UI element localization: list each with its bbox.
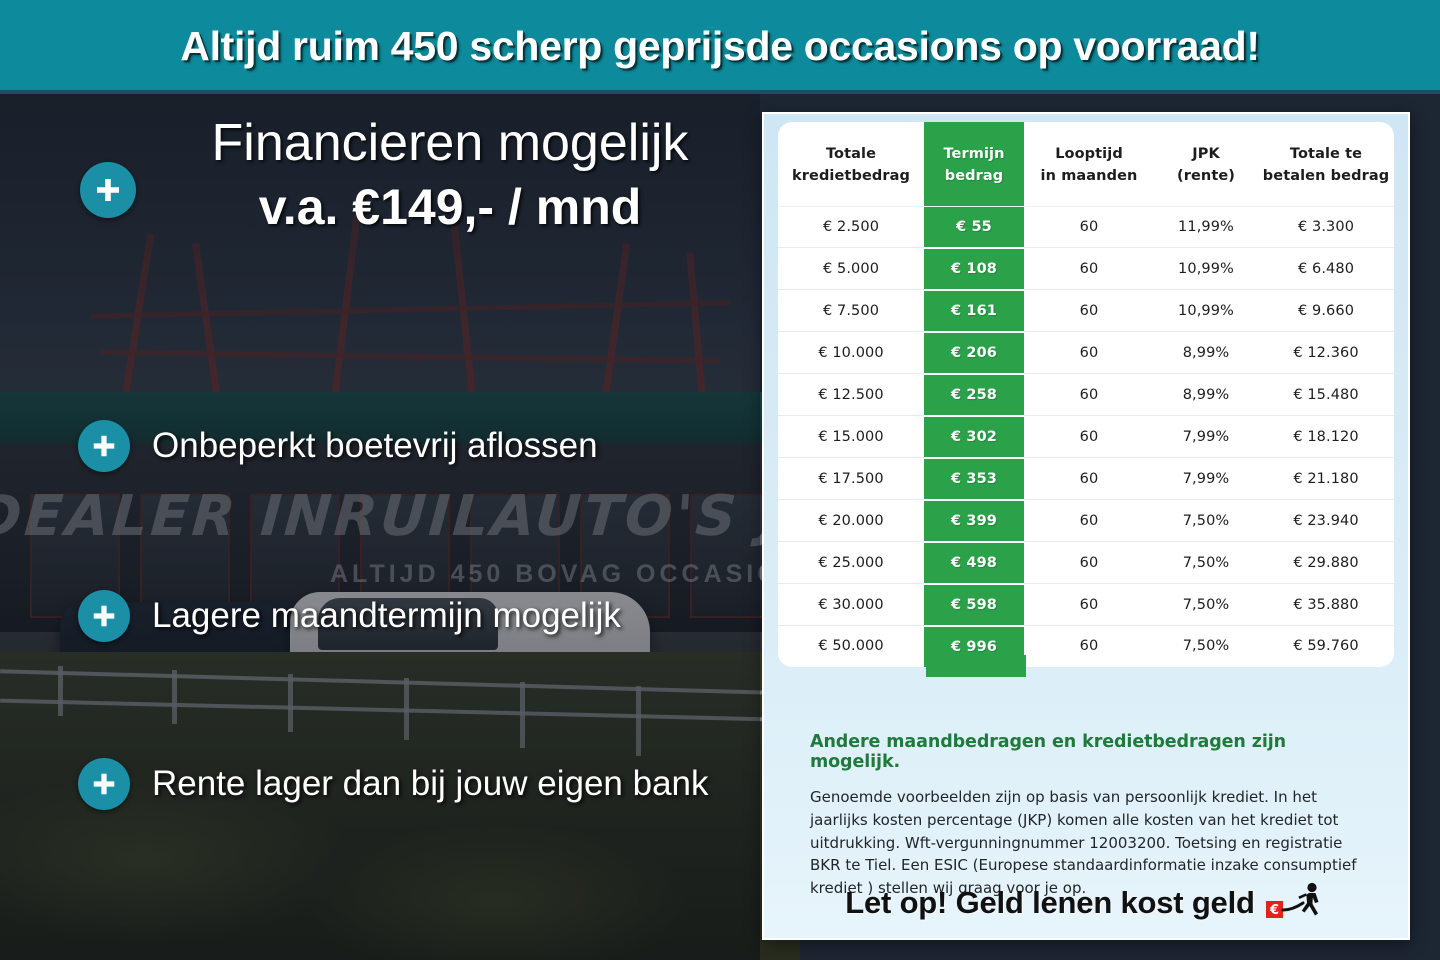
cell-apr: 7,50% (1154, 500, 1258, 542)
table-row: € 5.000€ 1086010,99%€ 6.480 (778, 248, 1394, 290)
header-line-2: bedrag (945, 168, 1004, 184)
cell-total-payable: € 3.300 (1258, 206, 1394, 248)
cell-monthly-amount: € 302 (924, 416, 1024, 458)
feature-bullet: Lagere maandtermijn mogelijk (78, 590, 621, 642)
column-header-total-payable: Totale te betalen bedrag (1258, 122, 1394, 206)
table-row: € 2.500€ 556011,99%€ 3.300 (778, 206, 1394, 248)
cell-apr: 10,99% (1154, 290, 1258, 332)
header-line-1: Termijn (943, 146, 1004, 162)
table-body: € 2.500€ 556011,99%€ 3.300€ 5.000€ 10860… (778, 206, 1394, 667)
table-row: € 50.000€ 996607,50%€ 59.760 (778, 626, 1394, 667)
cell-duration: 60 (1024, 626, 1154, 667)
cell-duration: 60 (1024, 542, 1154, 584)
cell-monthly-amount: € 108 (924, 248, 1024, 290)
cell-total-credit: € 17.500 (778, 458, 924, 500)
cell-total-payable: € 15.480 (1258, 374, 1394, 416)
cell-apr: 7,99% (1154, 416, 1258, 458)
cell-total-credit: € 15.000 (778, 416, 924, 458)
feature-bullet-label: Lagere maandtermijn mogelijk (152, 596, 621, 636)
cell-apr: 11,99% (1154, 206, 1258, 248)
cell-duration: 60 (1024, 374, 1154, 416)
cell-total-payable: € 6.480 (1258, 248, 1394, 290)
table-row: € 15.000€ 302607,99%€ 18.120 (778, 416, 1394, 458)
cell-total-credit: € 10.000 (778, 332, 924, 374)
cell-total-credit: € 12.500 (778, 374, 924, 416)
cell-apr: 10,99% (1154, 248, 1258, 290)
cell-total-credit: € 25.000 (778, 542, 924, 584)
cell-total-payable: € 21.180 (1258, 458, 1394, 500)
table-row: € 30.000€ 598607,50%€ 35.880 (778, 584, 1394, 626)
cell-total-credit: € 2.500 (778, 206, 924, 248)
headline-block: Financieren mogelijk v.a. €149,- / mnd (150, 116, 750, 234)
disclaimer-block: Andere maandbedragen en kredietbedragen … (810, 732, 1370, 900)
cell-total-payable: € 59.760 (1258, 626, 1394, 667)
cell-monthly-amount: € 161 (924, 290, 1024, 332)
cell-total-credit: € 7.500 (778, 290, 924, 332)
cell-monthly-amount: € 598 (924, 584, 1024, 626)
headline-line-2: v.a. €149,- / mnd (150, 181, 750, 234)
cell-total-payable: € 29.880 (1258, 542, 1394, 584)
header-line-1: Totale te (1290, 146, 1362, 162)
column-header-duration: Looptijd in maanden (1024, 122, 1154, 206)
feature-bullet: Onbeperkt boetevrij aflossen (78, 420, 598, 472)
header-line-1: Totale (826, 146, 876, 162)
table-row: € 12.500€ 258608,99%€ 15.480 (778, 374, 1394, 416)
table-header-row: Totale kredietbedrag Termijn bedrag Loop… (778, 122, 1394, 206)
table-row: € 7.500€ 1616010,99%€ 9.660 (778, 290, 1394, 332)
cell-total-payable: € 23.940 (1258, 500, 1394, 542)
disclaimer-heading: Andere maandbedragen en kredietbedragen … (810, 732, 1370, 772)
header-line-2: kredietbedrag (792, 168, 910, 184)
cell-total-credit: € 30.000 (778, 584, 924, 626)
cell-monthly-amount: € 258 (924, 374, 1024, 416)
feature-bullet-label: Onbeperkt boetevrij aflossen (152, 426, 598, 466)
header-line-2: betalen bedrag (1263, 168, 1389, 184)
plus-icon (78, 420, 130, 472)
ball-and-chain-walking-man-icon: € (1265, 882, 1327, 924)
cell-duration: 60 (1024, 290, 1154, 332)
cell-duration: 60 (1024, 206, 1154, 248)
cell-total-credit: € 50.000 (778, 626, 924, 667)
headline-line-1: Financieren mogelijk (150, 116, 750, 171)
financing-rates-table: Totale kredietbedrag Termijn bedrag Loop… (778, 122, 1394, 667)
cell-apr: 8,99% (1154, 332, 1258, 374)
cell-duration: 60 (1024, 416, 1154, 458)
cell-total-payable: € 12.360 (1258, 332, 1394, 374)
cell-total-credit: € 20.000 (778, 500, 924, 542)
table-row: € 20.000€ 399607,50%€ 23.940 (778, 500, 1394, 542)
column-header-monthly-amount: Termijn bedrag (924, 122, 1024, 206)
left-content-column: Financieren mogelijk v.a. €149,- / mnd O… (0, 92, 760, 960)
banner-underline (0, 90, 1440, 94)
table-header: Totale kredietbedrag Termijn bedrag Loop… (778, 122, 1394, 206)
rates-table-container: Totale kredietbedrag Termijn bedrag Loop… (778, 122, 1394, 667)
cell-duration: 60 (1024, 332, 1154, 374)
cell-monthly-amount: € 206 (924, 332, 1024, 374)
header-line-2: (rente) (1177, 168, 1235, 184)
cell-apr: 7,50% (1154, 584, 1258, 626)
header-line-1: JPK (1192, 146, 1220, 162)
credit-warning-text: Let op! Geld lenen kost geld (845, 885, 1255, 921)
credit-warning-block: Let op! Geld lenen kost geld € (764, 882, 1408, 924)
table-row: € 25.000€ 498607,50%€ 29.880 (778, 542, 1394, 584)
cell-duration: 60 (1024, 248, 1154, 290)
cell-monthly-amount: € 498 (924, 542, 1024, 584)
plus-icon (78, 590, 130, 642)
cell-apr: 7,50% (1154, 626, 1258, 667)
cell-duration: 60 (1024, 584, 1154, 626)
column-header-total-credit: Totale kredietbedrag (778, 122, 924, 206)
top-promo-banner: Altijd ruim 450 scherp geprijsde occasio… (0, 0, 1440, 92)
plus-icon (78, 758, 130, 810)
advertisement-banner: Altijd ruim 450 scherp geprijsde occasio… (0, 0, 1440, 960)
feature-bullet: Rente lager dan bij jouw eigen bank (78, 758, 709, 810)
cell-total-payable: € 18.120 (1258, 416, 1394, 458)
cell-total-credit: € 5.000 (778, 248, 924, 290)
cell-monthly-amount: € 399 (924, 500, 1024, 542)
cell-duration: 60 (1024, 458, 1154, 500)
cell-apr: 7,50% (1154, 542, 1258, 584)
cell-monthly-amount: € 55 (924, 206, 1024, 248)
cell-duration: 60 (1024, 500, 1154, 542)
cell-total-payable: € 35.880 (1258, 584, 1394, 626)
column-header-apr: JPK (rente) (1154, 122, 1258, 206)
promo-banner-text: Altijd ruim 450 scherp geprijsde occasio… (180, 23, 1259, 70)
header-line-1: Looptijd (1055, 146, 1123, 162)
cell-apr: 7,99% (1154, 458, 1258, 500)
cell-apr: 8,99% (1154, 374, 1258, 416)
cell-total-payable: € 9.660 (1258, 290, 1394, 332)
plus-icon (80, 162, 136, 218)
table-row: € 10.000€ 206608,99%€ 12.360 (778, 332, 1394, 374)
feature-bullet-label: Rente lager dan bij jouw eigen bank (152, 764, 709, 804)
highlight-column-tail (926, 655, 1026, 677)
table-row: € 17.500€ 353607,99%€ 21.180 (778, 458, 1394, 500)
header-line-2: in maanden (1041, 168, 1138, 184)
financing-info-card: Totale kredietbedrag Termijn bedrag Loop… (762, 112, 1410, 940)
svg-text:€: € (1269, 903, 1279, 918)
cell-monthly-amount: € 353 (924, 458, 1024, 500)
